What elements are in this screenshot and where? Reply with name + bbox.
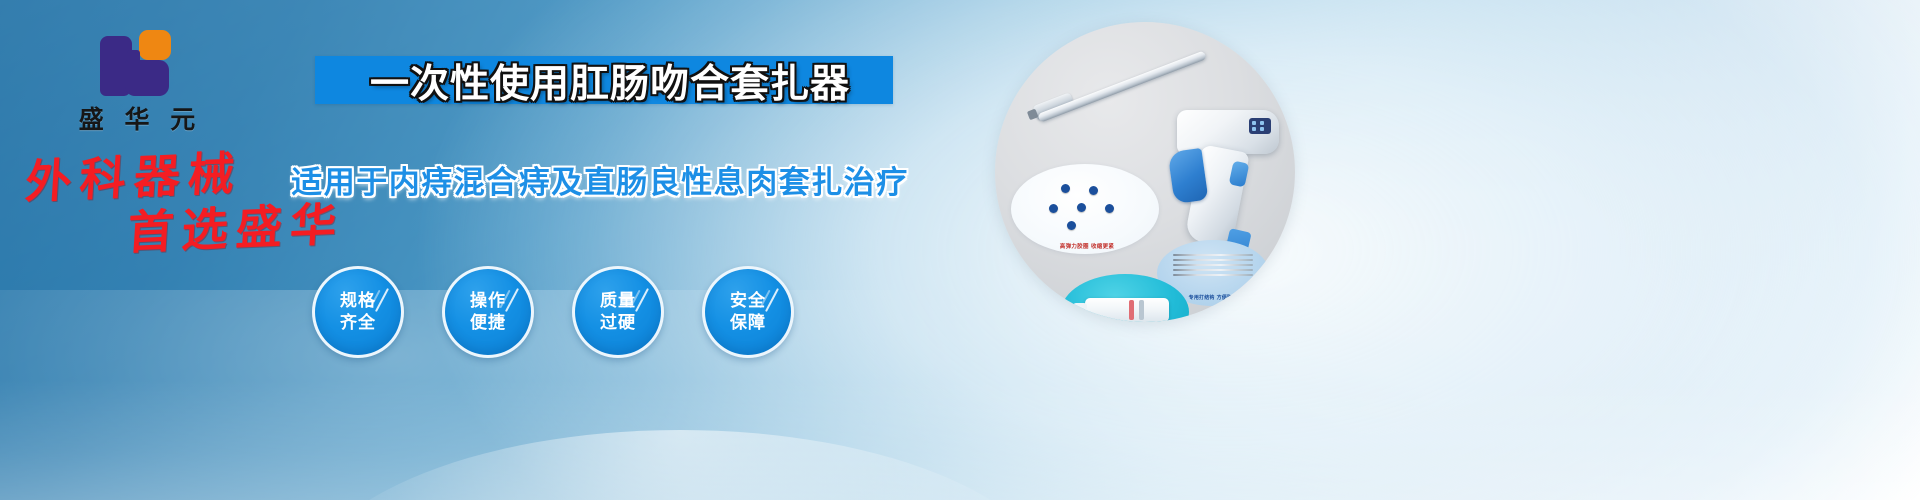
calligraphy-line-2: 首选盛华	[126, 200, 360, 256]
knot-hooks-icon	[1173, 254, 1255, 280]
subtitle-text: 适用于内痔混合痔及直肠良性息肉套扎治疗	[290, 158, 910, 200]
badge-label-line2: 过硬	[600, 312, 636, 334]
feature-badges: 规格 齐全 操作 便捷 质量 过硬 安全 保障	[312, 266, 794, 358]
badge-operate[interactable]: 操作 便捷	[442, 266, 534, 358]
badge-label-line1: 质量	[600, 290, 636, 312]
badge-label-line1: 操作	[470, 290, 506, 312]
logo-mark-icon	[97, 26, 177, 98]
badge-label-line1: 安全	[730, 290, 766, 312]
badge-safety[interactable]: 安全 保障	[702, 266, 794, 358]
badge-label-line2: 齐全	[340, 312, 376, 334]
inset-rings-caption: 高弹力胶圈 收缩更紧	[1031, 242, 1143, 250]
inset-rings: 高弹力胶圈 收缩更紧	[1011, 164, 1159, 254]
badge-specs[interactable]: 规格 齐全	[312, 266, 404, 358]
device-body	[1177, 110, 1279, 154]
headline-title: 一次性使用肛肠吻合套扎器	[330, 54, 890, 108]
device-blue-accent-1	[1229, 161, 1250, 188]
badge-label-line2: 保障	[730, 312, 766, 334]
badge-label-line2: 便捷	[470, 312, 506, 334]
ligation-rings-icon	[1045, 184, 1123, 230]
background-arc	[300, 430, 1060, 500]
device-trigger	[1168, 148, 1209, 204]
brand-logo[interactable]: 盛 华 元	[62, 26, 212, 136]
cartridge-icon	[1085, 298, 1169, 322]
product-photo[interactable]: 高弹力胶圈 收缩更紧 专用打结钩 方便取套	[995, 22, 1295, 322]
device-panel-icon	[1249, 118, 1271, 134]
background-bottom-fade	[0, 380, 1920, 500]
badge-quality[interactable]: 质量 过硬	[572, 266, 664, 358]
brand-name: 盛 华 元	[62, 100, 212, 136]
badge-label-line1: 规格	[340, 290, 376, 312]
